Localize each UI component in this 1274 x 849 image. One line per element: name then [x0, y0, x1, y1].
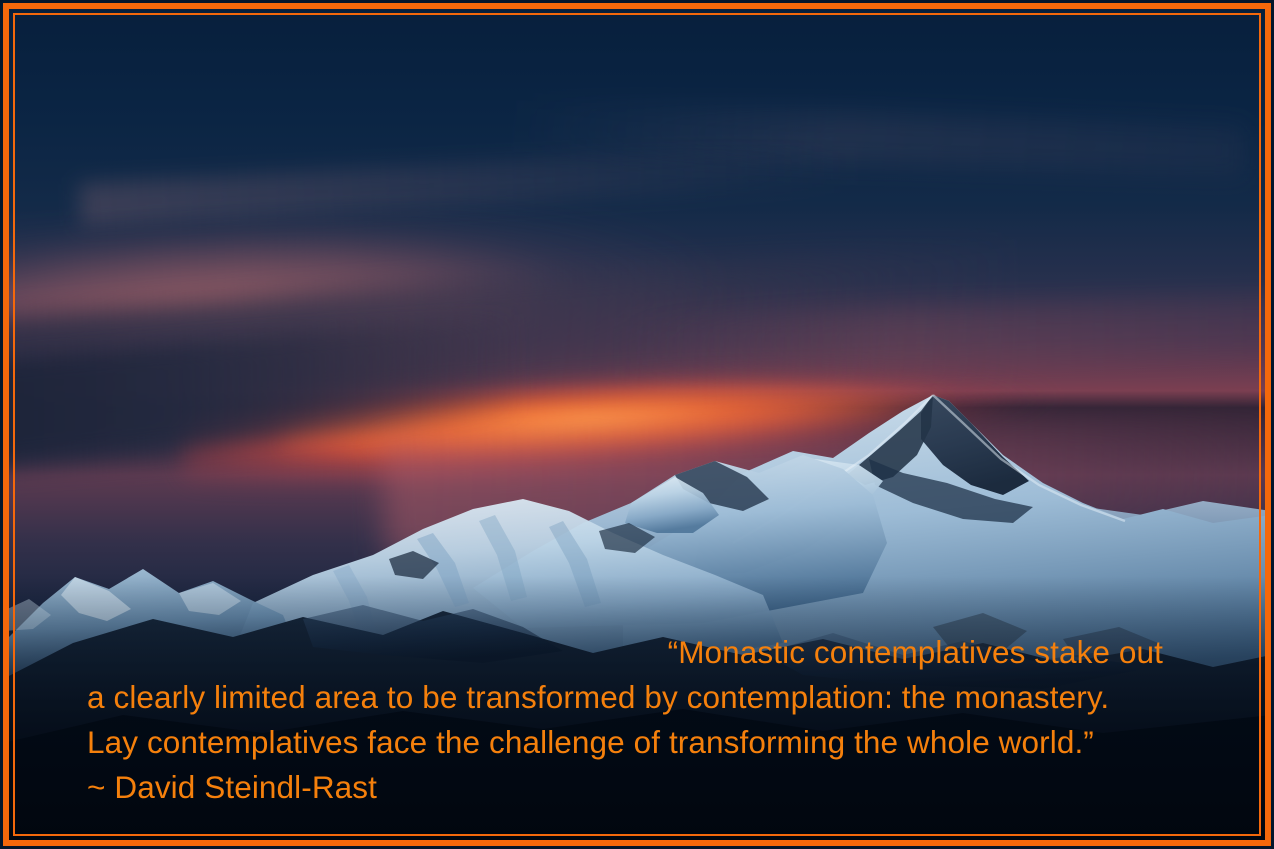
image-frame: “Monastic contemplatives stake out a cle… — [0, 0, 1274, 849]
quote-line-1: “Monastic contemplatives stake out — [87, 630, 1211, 675]
quote-line-2: a clearly limited area to be transformed… — [87, 675, 1211, 720]
quote-line-3: Lay contemplatives face the challenge of… — [87, 720, 1211, 765]
mountain-sunset-photo: “Monastic contemplatives stake out a cle… — [3, 3, 1271, 846]
quote-attribution: ~ David Steindl-Rast — [87, 765, 1211, 810]
quote-text-block: “Monastic contemplatives stake out a cle… — [87, 630, 1211, 810]
